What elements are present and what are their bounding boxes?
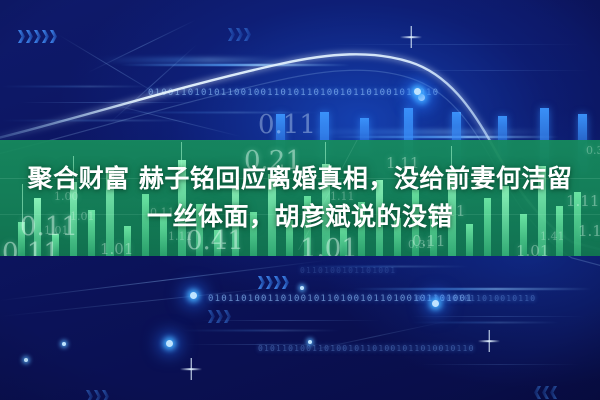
- headline-line-2: 一丝体面，胡彦斌说的没错: [0, 198, 600, 236]
- headline: 聚合财富 赫子铭回应离婚真相，没给前妻何洁留 一丝体面，胡彦斌说的没错: [0, 160, 600, 236]
- bar: [52, 234, 59, 256]
- curve-peak-node: [414, 88, 421, 95]
- news-banner: 0100110101011001001101011010010110100101…: [0, 0, 600, 400]
- headline-line-1: 聚合财富 赫子铭回应离婚真相，没给前妻何洁留: [28, 164, 573, 193]
- value-label: 0.11: [258, 110, 316, 140]
